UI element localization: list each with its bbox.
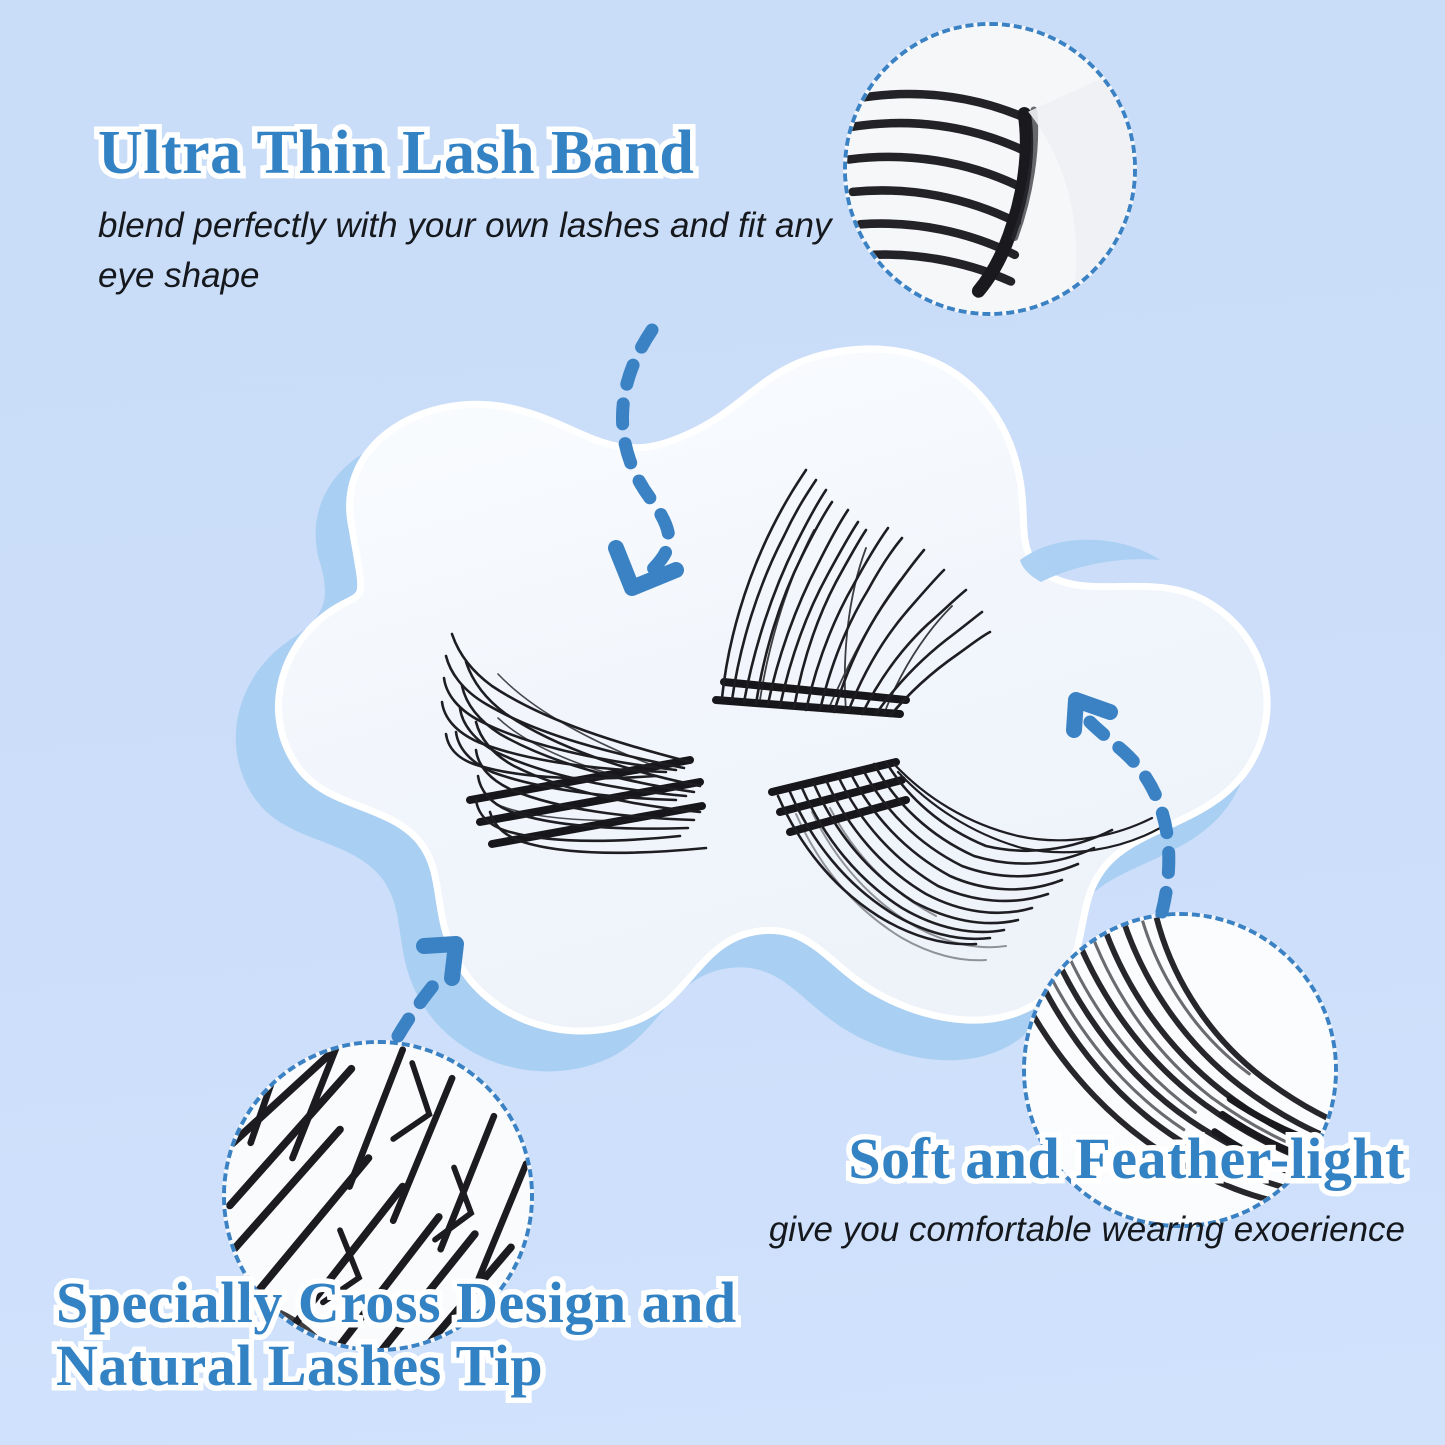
- feature-block-ultra-thin-lash-band: Ultra Thin Lash Band blend perfectly wit…: [98, 120, 878, 300]
- feature-block-specially-cross-design: Specially Cross Design and Natural Lashe…: [56, 1272, 796, 1397]
- lash-band-closeup-icon: [847, 26, 1133, 312]
- callout-circle-lash-band: [843, 22, 1137, 316]
- feature-block-soft-feather-light: Soft and Feather-light give you comforta…: [665, 1128, 1405, 1254]
- feature-title-specially-cross-design: Specially Cross Design and Natural Lashe…: [56, 1272, 796, 1397]
- blue-accent-lobe: [1020, 540, 1160, 582]
- infographic-canvas: .f { fill:none; stroke:#1e1e22; stroke-l…: [0, 0, 1445, 1445]
- feature-title-ultra-thin-lash-band: Ultra Thin Lash Band: [98, 120, 878, 187]
- feature-title-soft-feather-light: Soft and Feather-light: [665, 1128, 1405, 1191]
- feature-subtitle-ultra-thin-lash-band: blend perfectly with your own lashes and…: [98, 201, 878, 300]
- feature-subtitle-soft-feather-light: give you comfortable wearing exoerience: [665, 1205, 1405, 1255]
